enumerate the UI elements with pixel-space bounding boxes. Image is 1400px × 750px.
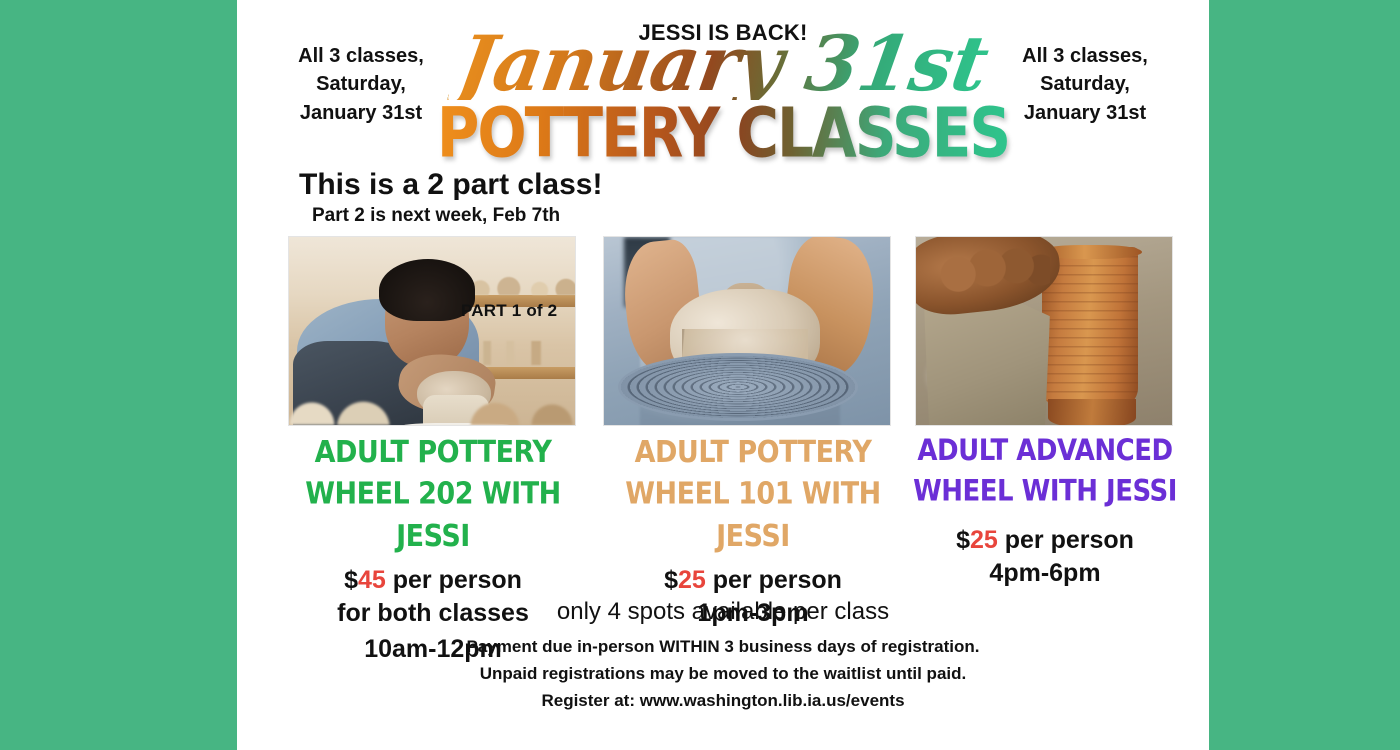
fine-print: Payment due in-person WITHIN 3 business … — [237, 634, 1209, 715]
part-1-of-2-badge: PART 1 of 2 — [461, 301, 557, 321]
class-title: ADULT POTTERY WHEEL 101 WITH JESSI — [593, 432, 913, 557]
shelf-pots — [467, 269, 576, 295]
knuckles — [938, 243, 1050, 295]
price-amount: 45 — [358, 566, 386, 594]
currency-symbol: $ — [956, 526, 970, 554]
flyer-canvas: All 3 classes, Saturday, January 31st Al… — [237, 0, 1209, 750]
block-title: POTTERY CLASSES — [437, 99, 1009, 167]
script-title-wrap: January 31st — [237, 28, 1209, 100]
currency-symbol: $ — [664, 566, 678, 594]
price-per: per person — [998, 526, 1134, 554]
price-amount: 25 — [970, 526, 998, 554]
currency-symbol: $ — [344, 566, 358, 594]
block-title-wrap: POTTERY CLASSES — [237, 104, 1209, 162]
potter-at-wheel-photo: PART 1 of 2 — [288, 236, 576, 426]
class-title: ADULT POTTERY WHEEL 202 WITH JESSI — [273, 432, 593, 557]
price-per: per person — [386, 566, 522, 594]
class-price: $25 per person — [909, 526, 1181, 555]
foreground-clutter — [289, 385, 575, 425]
class-column-3: ADULT ADVANCED WHEEL WITH JESSI $25 per … — [909, 432, 1181, 591]
class-price: $25 per person — [593, 566, 913, 595]
class-title: ADULT ADVANCED WHEEL WITH JESSI — [909, 432, 1181, 512]
part-heading: This is a 2 part class! — [299, 168, 602, 202]
script-title: January 31st — [448, 28, 999, 100]
class-column-1: ADULT POTTERY WHEEL 202 WITH JESSI $45 p… — [273, 432, 593, 667]
vase-foot — [1048, 399, 1136, 426]
terracotta-vase-photo — [915, 236, 1173, 426]
part-subheading: Part 2 is next week, Feb 7th — [312, 205, 560, 227]
price-amount: 25 — [678, 566, 706, 594]
clay-hands-photo — [603, 236, 891, 426]
class-time: 4pm-6pm — [909, 555, 1181, 591]
spots-available-note: only 4 spots available per class — [237, 598, 1209, 626]
shelf-tools — [479, 341, 575, 365]
price-per: per person — [706, 566, 842, 594]
pottery-wheel — [618, 353, 858, 421]
class-price: $45 per person — [273, 566, 593, 595]
